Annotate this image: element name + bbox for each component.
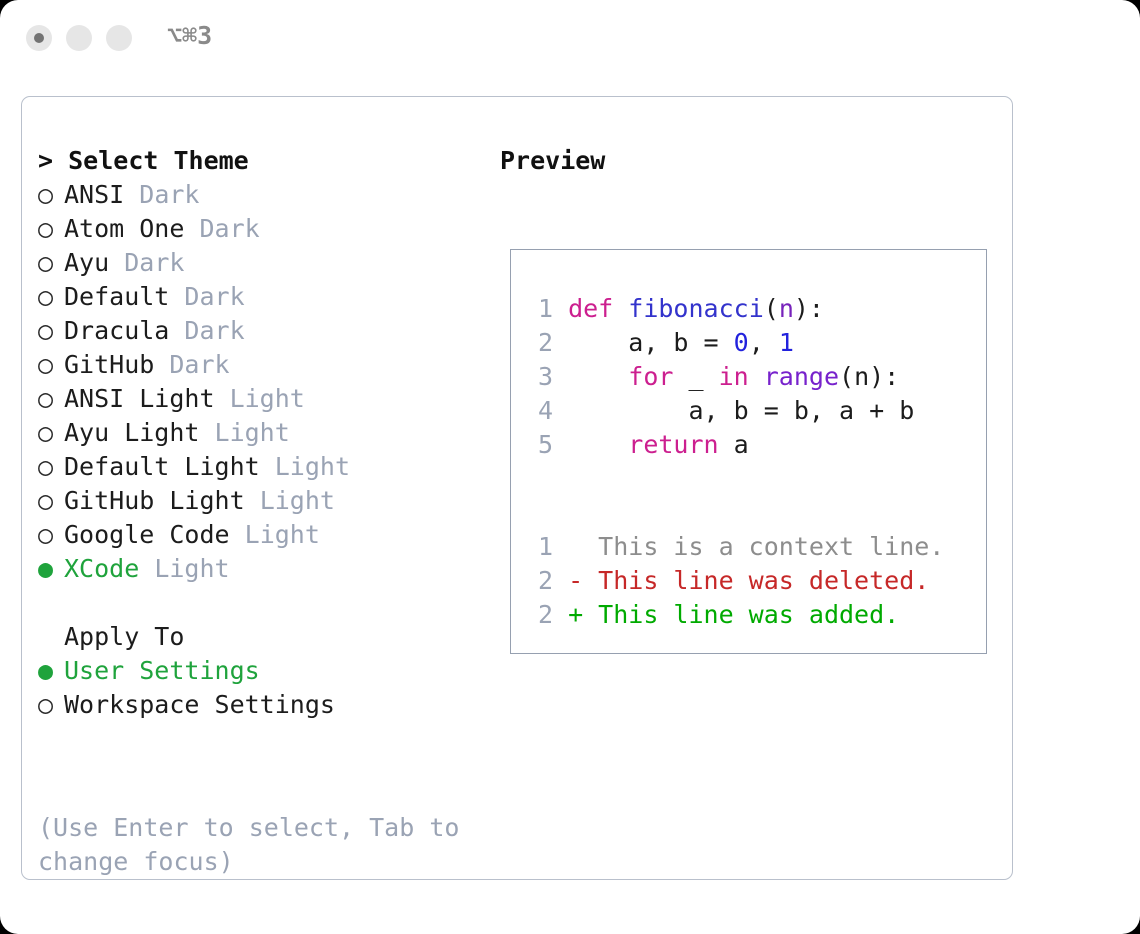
traffic-light-active-dot [34, 33, 44, 43]
diff-gutter-gap [553, 600, 568, 629]
radio-unselected-icon[interactable]: ○ [38, 280, 64, 314]
code-token: a [734, 430, 749, 459]
list-spacer [38, 586, 478, 620]
theme-option-variant: Dark [124, 248, 184, 277]
theme-option-gap [109, 248, 124, 277]
diff-marker [568, 532, 598, 561]
theme-option-variant: Light [245, 520, 320, 549]
theme-option-name: ANSI [64, 180, 124, 209]
diff-line: 1 This is a context line. [524, 530, 944, 564]
theme-option-gap [184, 214, 199, 243]
code-gutter-gap [553, 294, 568, 323]
diff-marker: + [568, 600, 598, 629]
theme-option-variant: Dark [184, 316, 244, 345]
code-line: 5 return a [524, 428, 944, 462]
theme-option-variant: Light [215, 418, 290, 447]
code-token: fibonacci [628, 294, 763, 323]
theme-option-name: Default Light [64, 452, 260, 481]
diff-text: This line was added. [598, 600, 899, 629]
radio-unselected-icon[interactable]: ○ [38, 518, 64, 552]
code-line: 1 def fibonacci(n): [524, 292, 944, 326]
code-blank-line [524, 496, 944, 530]
theme-option-variant: Light [154, 554, 229, 583]
diff-gutter-gap [553, 566, 568, 595]
theme-option-row[interactable]: ○Default Dark [38, 280, 478, 314]
code-token: a, b = b, a + b [568, 396, 914, 425]
preview-code: 1 def fibonacci(n):2 a, b = 0, 13 for _ … [524, 292, 944, 632]
theme-option-gap [124, 180, 139, 209]
code-line-number: 4 [524, 394, 553, 428]
code-line-number: 1 [524, 292, 553, 326]
diff-line: 2 + This line was added. [524, 598, 944, 632]
traffic-light-close[interactable] [26, 25, 52, 51]
theme-option-gap [139, 554, 154, 583]
theme-option-gap [199, 418, 214, 447]
preview-box: 1 def fibonacci(n):2 a, b = 0, 13 for _ … [510, 249, 987, 654]
radio-unselected-icon[interactable]: ○ [38, 212, 64, 246]
code-line-number: 2 [524, 326, 553, 360]
diff-marker: - [568, 566, 598, 595]
code-token: ( [764, 294, 779, 323]
theme-option-gap [169, 282, 184, 311]
diff-text: This line was deleted. [598, 566, 929, 595]
code-token: 1 [779, 328, 794, 357]
theme-option-variant: Dark [199, 214, 259, 243]
app-window: ⌥⌘3 > Select Theme ○ANSI Dark○Atom One D… [0, 0, 1140, 934]
radio-unselected-icon[interactable]: ○ [38, 246, 64, 280]
theme-option-gap [215, 384, 230, 413]
diff-gutter-gap [553, 532, 568, 561]
theme-option-name: XCode [64, 554, 139, 583]
code-line: 4 a, b = b, a + b [524, 394, 944, 428]
diff-line: 2 - This line was deleted. [524, 564, 944, 598]
apply-to-option-name: User Settings [64, 656, 260, 685]
theme-option-gap [169, 316, 184, 345]
code-token: return [568, 430, 734, 459]
theme-selector-column: > Select Theme ○ANSI Dark○Atom One Dark○… [38, 144, 478, 722]
radio-unselected-icon[interactable]: ○ [38, 348, 64, 382]
theme-option-name: GitHub Light [64, 486, 245, 515]
select-theme-heading-text: Select Theme [68, 146, 249, 175]
theme-option-variant: Dark [139, 180, 199, 209]
theme-option-row[interactable]: ○ANSI Dark [38, 178, 478, 212]
code-gutter-gap [553, 396, 568, 425]
select-theme-heading-prefix: > [38, 146, 68, 175]
theme-option-variant: Light [275, 452, 350, 481]
code-token: (n): [839, 362, 899, 391]
apply-to-option-name: Workspace Settings [64, 690, 335, 719]
code-token: range [764, 362, 839, 391]
code-line-number: 5 [524, 428, 553, 462]
keyboard-hint-text: (Use Enter to select, Tab to change focu… [38, 811, 468, 879]
apply-to-option-list: ●User Settings○Workspace Settings [38, 654, 478, 722]
theme-option-variant: Light [230, 384, 305, 413]
theme-option-name: GitHub [64, 350, 154, 379]
theme-option-variant: Dark [169, 350, 229, 379]
code-token: a, b = [568, 328, 734, 357]
diff-text: This is a context line. [598, 532, 944, 561]
code-token: , [749, 328, 779, 357]
theme-option-row[interactable]: ○Default Light Light [38, 450, 478, 484]
code-line: 2 a, b = 0, 1 [524, 326, 944, 360]
theme-option-name: Dracula [64, 316, 169, 345]
theme-option-name: Ayu [64, 248, 109, 277]
theme-option-list: ○ANSI Dark○Atom One Dark○Ayu Dark○Defaul… [38, 178, 478, 586]
theme-option-row[interactable]: ○GitHub Dark [38, 348, 478, 382]
theme-option-gap [245, 486, 260, 515]
apply-to-heading: Apply To [38, 620, 478, 654]
radio-unselected-icon[interactable]: ○ [38, 688, 64, 722]
theme-option-name: Default [64, 282, 169, 311]
theme-option-variant: Dark [184, 282, 244, 311]
apply-to-heading-text: Apply To [64, 622, 184, 651]
theme-option-gap [230, 520, 245, 549]
theme-option-row[interactable]: ●XCode Light [38, 552, 478, 586]
apply-to-heading-indent [38, 620, 64, 654]
code-token: _ [688, 362, 718, 391]
code-token: in [719, 362, 764, 391]
radio-unselected-icon[interactable]: ○ [38, 178, 64, 212]
radio-unselected-icon[interactable]: ○ [38, 382, 64, 416]
radio-unselected-icon[interactable]: ○ [38, 484, 64, 518]
code-gutter-gap [553, 430, 568, 459]
theme-option-name: Ayu Light [64, 418, 199, 447]
radio-unselected-icon[interactable]: ○ [38, 314, 64, 348]
code-gutter-gap [553, 362, 568, 391]
diff-line-number: 2 [524, 564, 553, 598]
traffic-light-maximize[interactable] [106, 25, 132, 51]
theme-option-gap [260, 452, 275, 481]
keyboard-shortcut-label: ⌥⌘3 [167, 21, 212, 50]
theme-option-row[interactable]: ○Ayu Light Light [38, 416, 478, 450]
theme-option-row[interactable]: ○GitHub Light Light [38, 484, 478, 518]
theme-option-row[interactable]: ○ANSI Light Light [38, 382, 478, 416]
code-token: for [568, 362, 688, 391]
theme-option-row[interactable]: ○Dracula Dark [38, 314, 478, 348]
preview-heading: Preview [500, 144, 1000, 178]
code-blank-line [524, 462, 944, 496]
diff-line-number: 1 [524, 530, 553, 564]
code-token: def [568, 294, 628, 323]
theme-option-variant: Light [260, 486, 335, 515]
code-gutter-gap [553, 328, 568, 357]
code-token: n [779, 294, 794, 323]
theme-option-gap [154, 350, 169, 379]
code-line: 3 for _ in range(n): [524, 360, 944, 394]
code-token: ): [794, 294, 824, 323]
radio-unselected-icon[interactable]: ○ [38, 450, 64, 484]
theme-option-row[interactable]: ○Atom One Dark [38, 212, 478, 246]
code-line-number: 3 [524, 360, 553, 394]
radio-unselected-icon[interactable]: ○ [38, 416, 64, 450]
preview-column: Preview 1 def fibonacci(n):2 a, b = 0, 1… [500, 144, 1000, 178]
theme-option-name: ANSI Light [64, 384, 215, 413]
apply-to-option-row[interactable]: ●User Settings [38, 654, 478, 688]
content-panel: > Select Theme ○ANSI Dark○Atom One Dark○… [21, 96, 1013, 880]
radio-selected-icon[interactable]: ● [38, 552, 64, 586]
diff-line-number: 2 [524, 598, 553, 632]
select-theme-heading: > Select Theme [38, 144, 478, 178]
apply-to-option-row[interactable]: ○Workspace Settings [38, 688, 478, 722]
theme-option-name: Google Code [64, 520, 230, 549]
code-token: 0 [734, 328, 749, 357]
theme-option-row[interactable]: ○Google Code Light [38, 518, 478, 552]
theme-option-row[interactable]: ○Ayu Dark [38, 246, 478, 280]
traffic-light-minimize[interactable] [66, 25, 92, 51]
radio-selected-icon[interactable]: ● [38, 654, 64, 688]
title-bar: ⌥⌘3 [0, 0, 1140, 76]
theme-option-name: Atom One [64, 214, 184, 243]
